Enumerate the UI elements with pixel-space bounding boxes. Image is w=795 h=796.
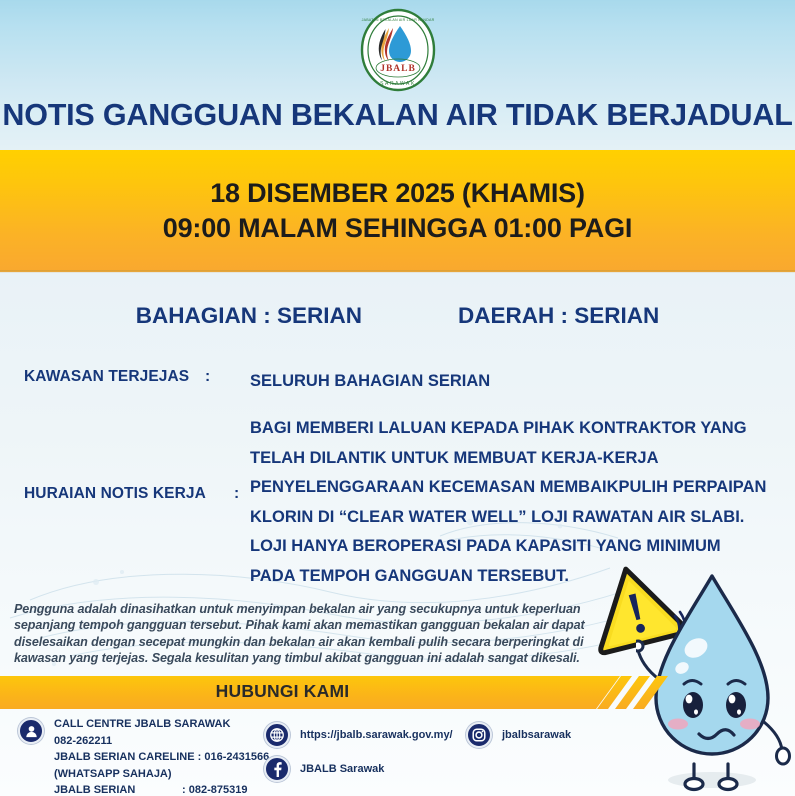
call-centre-name: CALL CENTRE JBALB SARAWAK — [54, 716, 269, 733]
svg-text:SARAWAK: SARAWAK — [380, 81, 416, 87]
region-row: BAHAGIAN : SERIAN DAERAH : SERIAN — [0, 303, 795, 329]
person-icon — [18, 718, 44, 744]
serian-office-label: JBALB SERIAN — [54, 782, 182, 796]
water-disruption-notice-poster: JBALB JABATAN BEKALAN AIR LUAR BANDAR SA… — [0, 0, 795, 796]
division-label: BAHAGIAN : SERIAN — [136, 303, 362, 329]
serian-office-row: JBALB SERIAN: 082-875319 — [54, 782, 269, 796]
contact-banner-title: HUBUNGI KAMI — [0, 681, 565, 702]
contact-instagram-block: jbalbsarawak — [466, 722, 571, 748]
contact-web-block: https://jbalb.sarawak.gov.my/ JBALB Sara… — [264, 722, 453, 782]
affected-area-value: SELURUH BAHAGIAN SERIAN — [250, 367, 490, 397]
contact-phone-block: CALL CENTRE JBALB SARAWAK 082-262211 JBA… — [18, 718, 269, 796]
facebook-handle[interactable]: JBALB Sarawak — [300, 761, 384, 778]
facebook-entry[interactable]: JBALB Sarawak — [264, 756, 453, 782]
facebook-icon — [264, 756, 290, 782]
affected-area-colon: : — [205, 368, 210, 386]
work-description-label: HURAIAN NOTIS KERJA — [24, 485, 206, 503]
jbalb-logo: JBALB JABATAN BEKALAN AIR LUAR BANDAR SA… — [356, 8, 440, 92]
logo-acronym: JBALB — [380, 64, 416, 74]
website-url[interactable]: https://jbalb.sarawak.gov.my/ — [300, 727, 453, 744]
globe-icon — [264, 722, 290, 748]
date-time-band: 18 DISEMBER 2025 (KHAMIS) 09:00 MALAM SE… — [0, 150, 795, 272]
instagram-handle[interactable]: jbalbsarawak — [502, 727, 571, 744]
district-label: DAERAH : SERIAN — [458, 303, 659, 329]
instagram-entry[interactable]: jbalbsarawak — [466, 722, 571, 748]
affected-area-label: KAWASAN TERJEJAS — [24, 368, 189, 386]
call-centre-number[interactable]: 082-262211 — [54, 733, 269, 750]
work-description-colon: : — [234, 485, 239, 503]
instagram-icon — [466, 722, 492, 748]
advisory-disclaimer-text: Pengguna adalah dinasihatkan untuk menyi… — [14, 601, 586, 667]
page-title: NOTIS GANGGUAN BEKALAN AIR TIDAK BERJADU… — [0, 98, 795, 133]
serian-office-number[interactable]: : 082-875319 — [182, 784, 247, 796]
svg-text:JABATAN BEKALAN AIR LUAR BANDA: JABATAN BEKALAN AIR LUAR BANDAR — [361, 18, 434, 22]
notice-time: 09:00 MALAM SEHINGGA 01:00 PAGI — [163, 213, 632, 244]
serian-careline[interactable]: JBALB SERIAN CARELINE : 016-2431566 — [54, 749, 269, 766]
website-entry[interactable]: https://jbalb.sarawak.gov.my/ — [264, 722, 453, 748]
whatsapp-note: (WHATSAPP SAHAJA) — [54, 766, 269, 783]
notice-date: 18 DISEMBER 2025 (KHAMIS) — [210, 178, 585, 209]
